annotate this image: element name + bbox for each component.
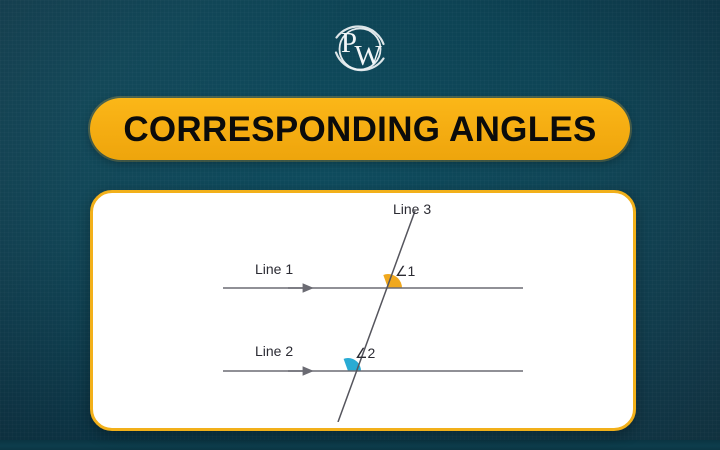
angle1-label: ∠1	[395, 263, 415, 280]
page-title: CORRESPONDING ANGLES	[123, 112, 596, 147]
angles-diagram: Line 3 Line 1 Line 2 ∠1 ∠2	[93, 193, 633, 428]
angle2-label: ∠2	[355, 345, 375, 362]
line2-label: Line 2	[255, 343, 293, 359]
line1-label: Line 1	[255, 261, 293, 277]
title-banner: CORRESPONDING ANGLES	[90, 98, 630, 160]
bottom-strip	[0, 440, 720, 450]
line3-stroke	[338, 211, 415, 422]
logo-letter-w: W	[354, 40, 382, 72]
slide-canvas: P W CORRESPONDING ANGLES	[0, 0, 720, 450]
pw-circle-logo-icon: P W	[327, 20, 393, 82]
line3-label: Line 3	[393, 201, 431, 217]
diagram-card: Line 3 Line 1 Line 2 ∠1 ∠2	[90, 190, 636, 431]
